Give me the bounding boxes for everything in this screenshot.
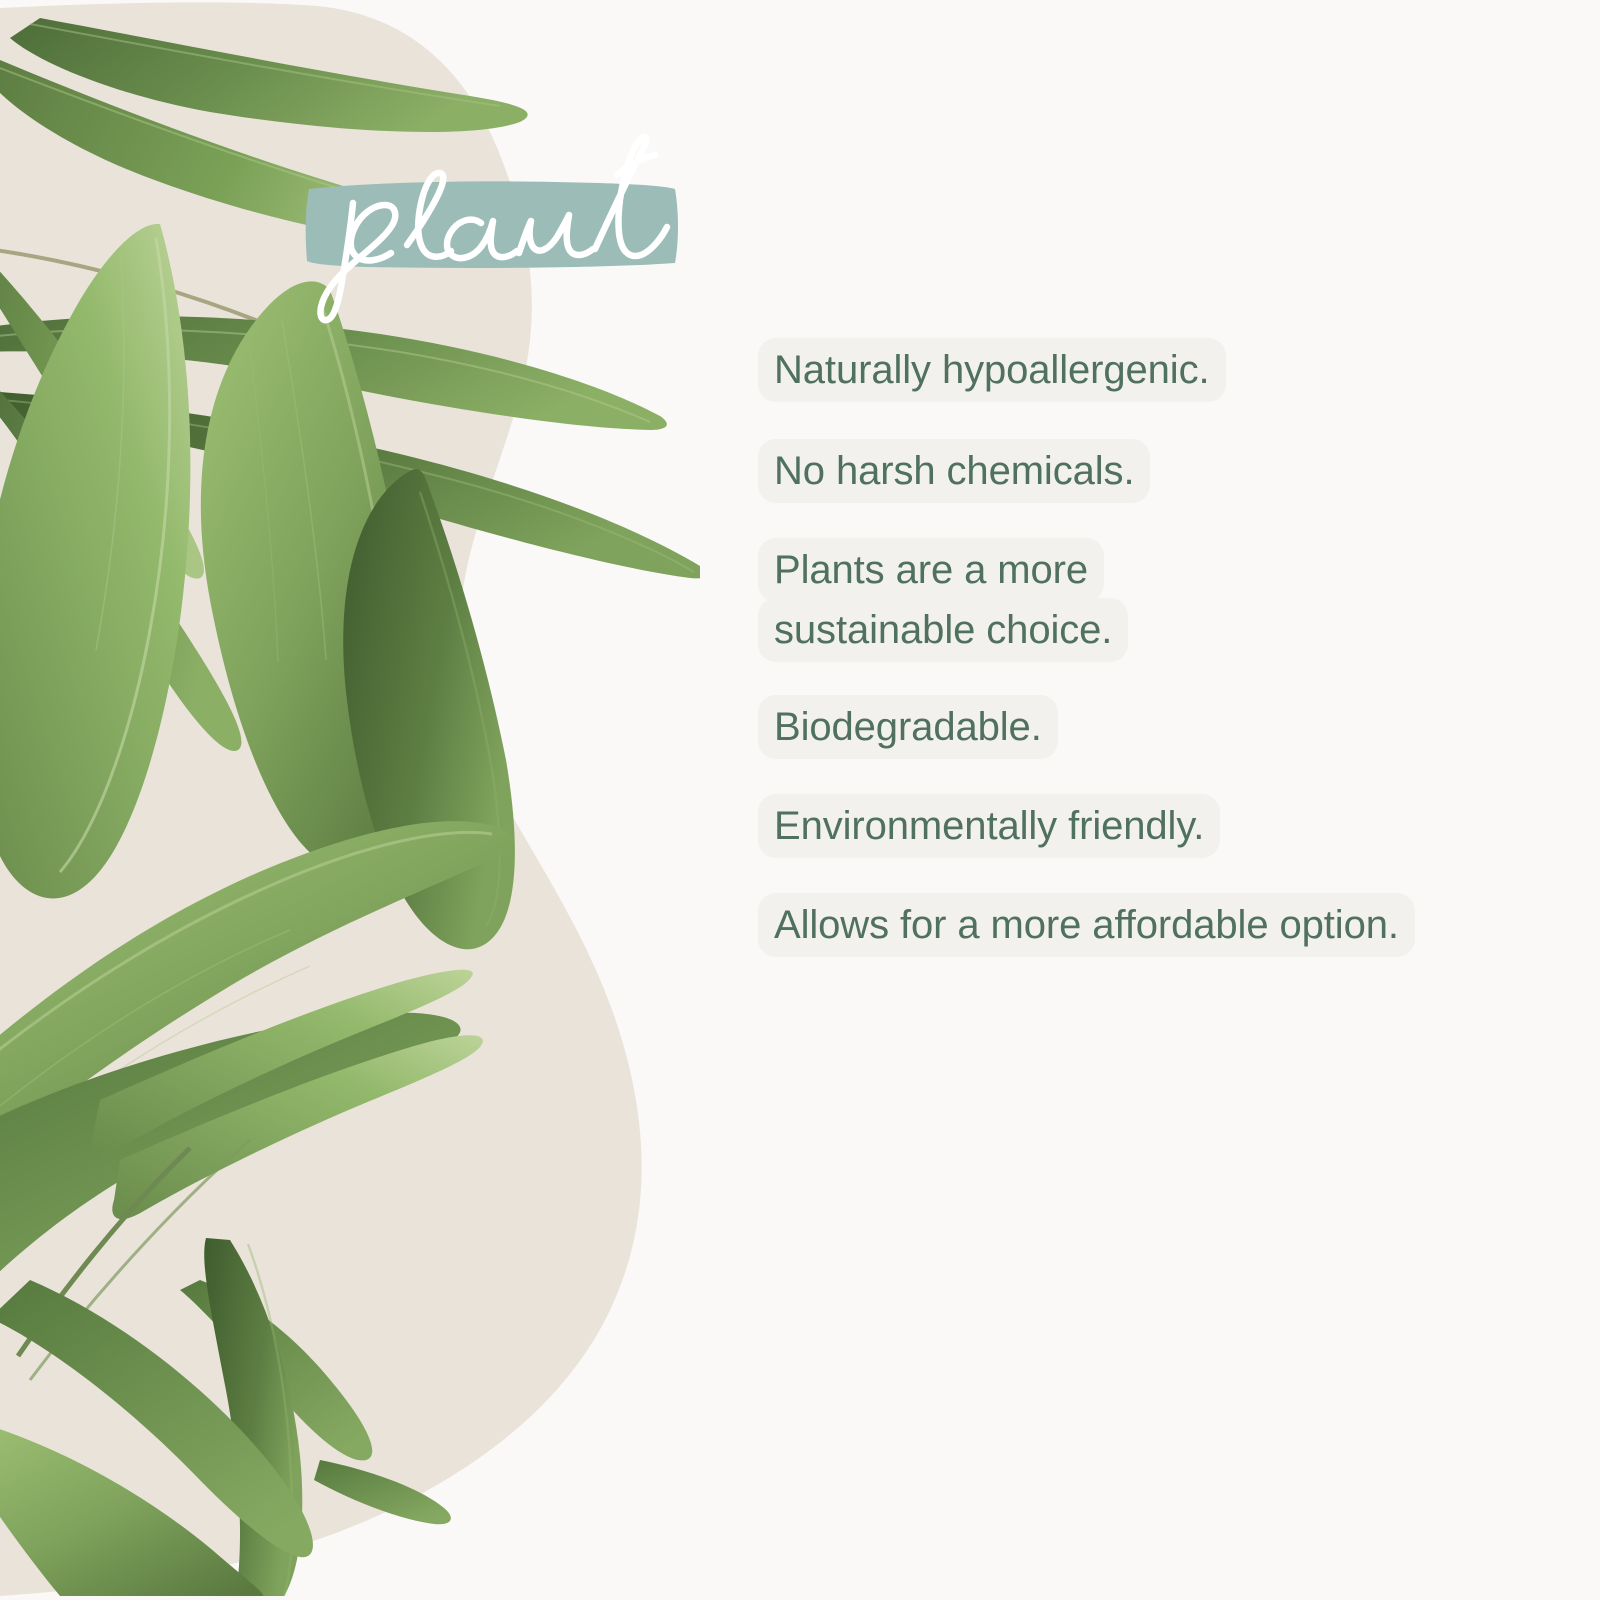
benefit-line: Naturally hypoallergenic. <box>758 340 1518 401</box>
benefit-line: Biodegradable. <box>758 697 1518 758</box>
benefits-list: Naturally hypoallergenic. No harsh chemi… <box>758 340 1518 956</box>
brand-wordmark-plant: plant <box>295 119 695 339</box>
benefit-text: sustainable choice. <box>758 598 1128 662</box>
poster-canvas: plant Naturally hypoallergenic. No harsh… <box>0 0 1600 1600</box>
leaf-group-lower <box>0 821 512 1596</box>
benefit-item-biodegradable: Biodegradable. <box>758 697 1518 758</box>
benefit-text: No harsh chemicals. <box>758 439 1150 503</box>
benefit-line: Plants are a more <box>758 540 1518 601</box>
benefit-text: Allows for a more affordable option. <box>758 893 1415 957</box>
benefit-line: Allows for a more affordable option. <box>758 895 1518 956</box>
brand-banner: plant <box>305 179 679 269</box>
benefit-line: Environmentally friendly. <box>758 796 1518 857</box>
benefit-item-sustainable: Plants are a more sustainable choice. <box>758 540 1518 662</box>
benefit-item-hypoallergenic: Naturally hypoallergenic. <box>758 340 1518 401</box>
benefit-text: Naturally hypoallergenic. <box>758 338 1226 402</box>
benefit-text: Biodegradable. <box>758 695 1058 759</box>
benefit-line: sustainable choice. <box>758 600 1518 661</box>
benefit-text: Plants are a more <box>758 538 1104 602</box>
benefit-item-affordable: Allows for a more affordable option. <box>758 895 1518 956</box>
benefit-item-eco-friendly: Environmentally friendly. <box>758 796 1518 857</box>
benefit-line: No harsh chemicals. <box>758 441 1518 502</box>
benefit-item-no-chemicals: No harsh chemicals. <box>758 441 1518 502</box>
benefit-text: Environmentally friendly. <box>758 794 1220 858</box>
